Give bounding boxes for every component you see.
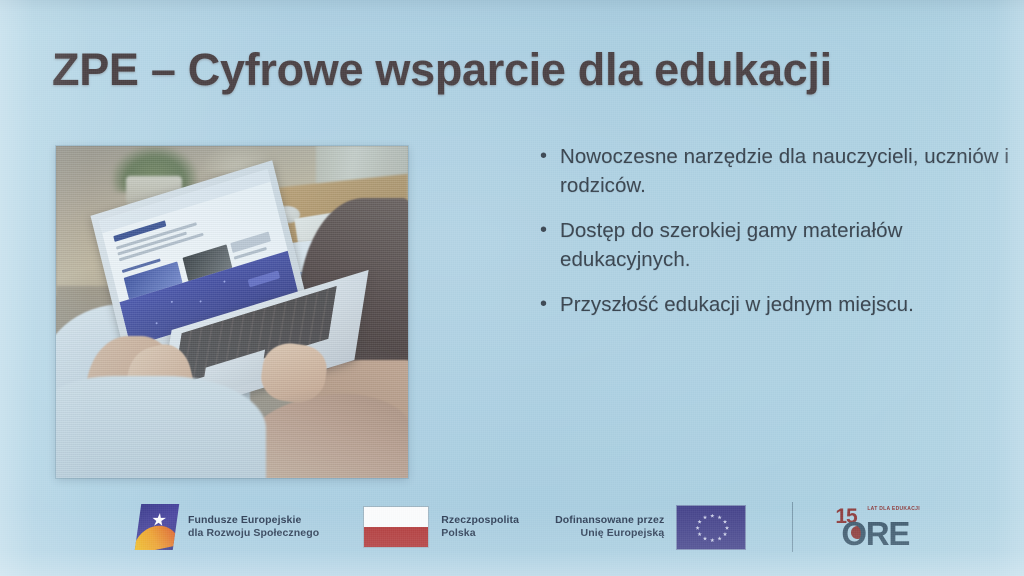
ore-logo-icon: 15 LAT DLA EDUKACJI ORE xyxy=(831,503,951,551)
unia-europejska-label: Dofinansowane przez Unię Europejską xyxy=(555,514,664,541)
bullet-item: • Nowoczesne narzędzie dla nauczycieli, … xyxy=(540,142,1012,200)
european-union-flag-icon xyxy=(676,505,746,550)
bullet-marker-icon: • xyxy=(540,216,560,245)
bullet-text: Przyszłość edukacji w jednym miejscu. xyxy=(560,290,914,319)
fundusze-europejskie-label: Fundusze Europejskie dla Rozwoju Społecz… xyxy=(188,514,319,541)
swoosh-shape-icon xyxy=(135,521,179,550)
poland-flag-icon xyxy=(363,506,429,548)
photo-screen-grain xyxy=(56,146,408,478)
footer-unia-europejska: Dofinansowane przez Unię Europejską xyxy=(555,505,746,550)
unia-line-2: Unię Europejską xyxy=(555,527,664,541)
footer-rzeczpospolita-polska: Rzeczpospolita Polska xyxy=(363,506,519,548)
footer-ore: 15 LAT DLA EDUKACJI ORE xyxy=(831,503,951,551)
footer-fundusze-europejskie: Fundusze Europejskie dla Rozwoju Społecz… xyxy=(138,504,319,550)
unia-line-1: Dofinansowane przez xyxy=(555,514,664,528)
polska-line-1: Rzeczpospolita xyxy=(441,514,519,528)
rzeczpospolita-polska-label: Rzeczpospolita Polska xyxy=(441,514,519,541)
bullet-text: Nowoczesne narzędzie dla nauczycieli, uc… xyxy=(560,142,1012,200)
laptop-photo xyxy=(56,146,408,478)
bullet-text: Dostęp do szerokiej gamy materiałów eduk… xyxy=(560,216,1012,274)
ore-tagline: LAT DLA EDUKACJI xyxy=(867,506,920,512)
bullet-item: • Przyszłość edukacji w jednym miejscu. xyxy=(540,290,1012,319)
bullet-list: • Nowoczesne narzędzie dla nauczycieli, … xyxy=(540,142,1012,335)
fundusze-line-2: dla Rozwoju Społecznego xyxy=(188,527,319,541)
presentation-slide: ZPE – Cyfrowe wsparcie dla edukacji xyxy=(0,0,1024,576)
ore-wordmark: ORE xyxy=(841,515,909,553)
polska-line-2: Polska xyxy=(441,527,519,541)
bullet-marker-icon: • xyxy=(540,142,560,171)
fundusze-europejskie-logo-icon xyxy=(135,504,179,550)
fundusze-line-1: Fundusze Europejskie xyxy=(188,514,319,528)
footer-divider xyxy=(792,502,793,552)
slide-title: ZPE – Cyfrowe wsparcie dla edukacji xyxy=(52,44,982,96)
slide-footer: Fundusze Europejskie dla Rozwoju Społecz… xyxy=(0,494,1024,560)
bullet-marker-icon: • xyxy=(540,290,560,319)
bullet-item: • Dostęp do szerokiej gamy materiałów ed… xyxy=(540,216,1012,274)
